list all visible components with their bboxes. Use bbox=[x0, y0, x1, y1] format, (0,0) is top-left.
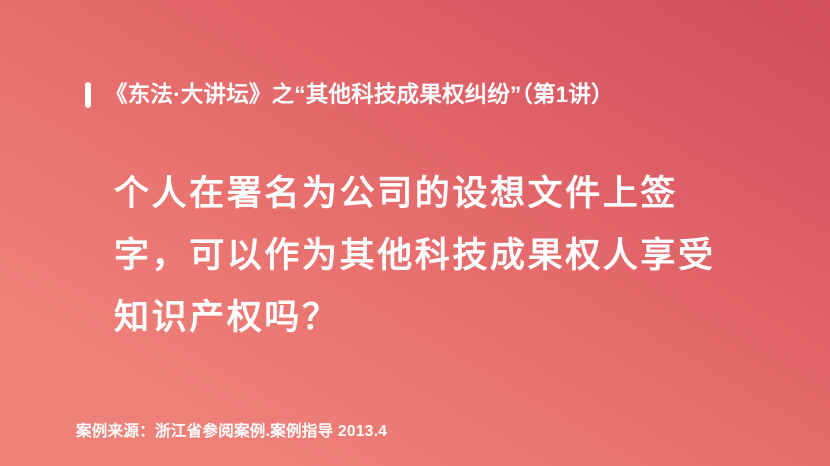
accent-bar-icon bbox=[85, 82, 91, 108]
kicker-title-label: 《东法·大讲坛》之“其他科技成果权纠纷”（第1讲） bbox=[105, 79, 614, 111]
case-source-label: 案例来源：浙江省参阅案例.案例指导 2013.4 bbox=[76, 421, 387, 443]
headline-line: 知识产权吗？ bbox=[114, 287, 754, 349]
headline-line: 个人在署名为公司的设想文件上签 bbox=[114, 163, 754, 225]
slide-canvas: 《东法·大讲坛》之“其他科技成果权纠纷”（第1讲） 个人在署名为公司的设想文件上… bbox=[0, 0, 830, 466]
headline-line: 字，可以作为其他科技成果权人享受 bbox=[114, 225, 754, 287]
kicker-title: 《东法·大讲坛》之“其他科技成果权纠纷”（第1讲） bbox=[85, 79, 614, 111]
headline-question: 个人在署名为公司的设想文件上签 字，可以作为其他科技成果权人享受 知识产权吗？ bbox=[114, 163, 754, 349]
